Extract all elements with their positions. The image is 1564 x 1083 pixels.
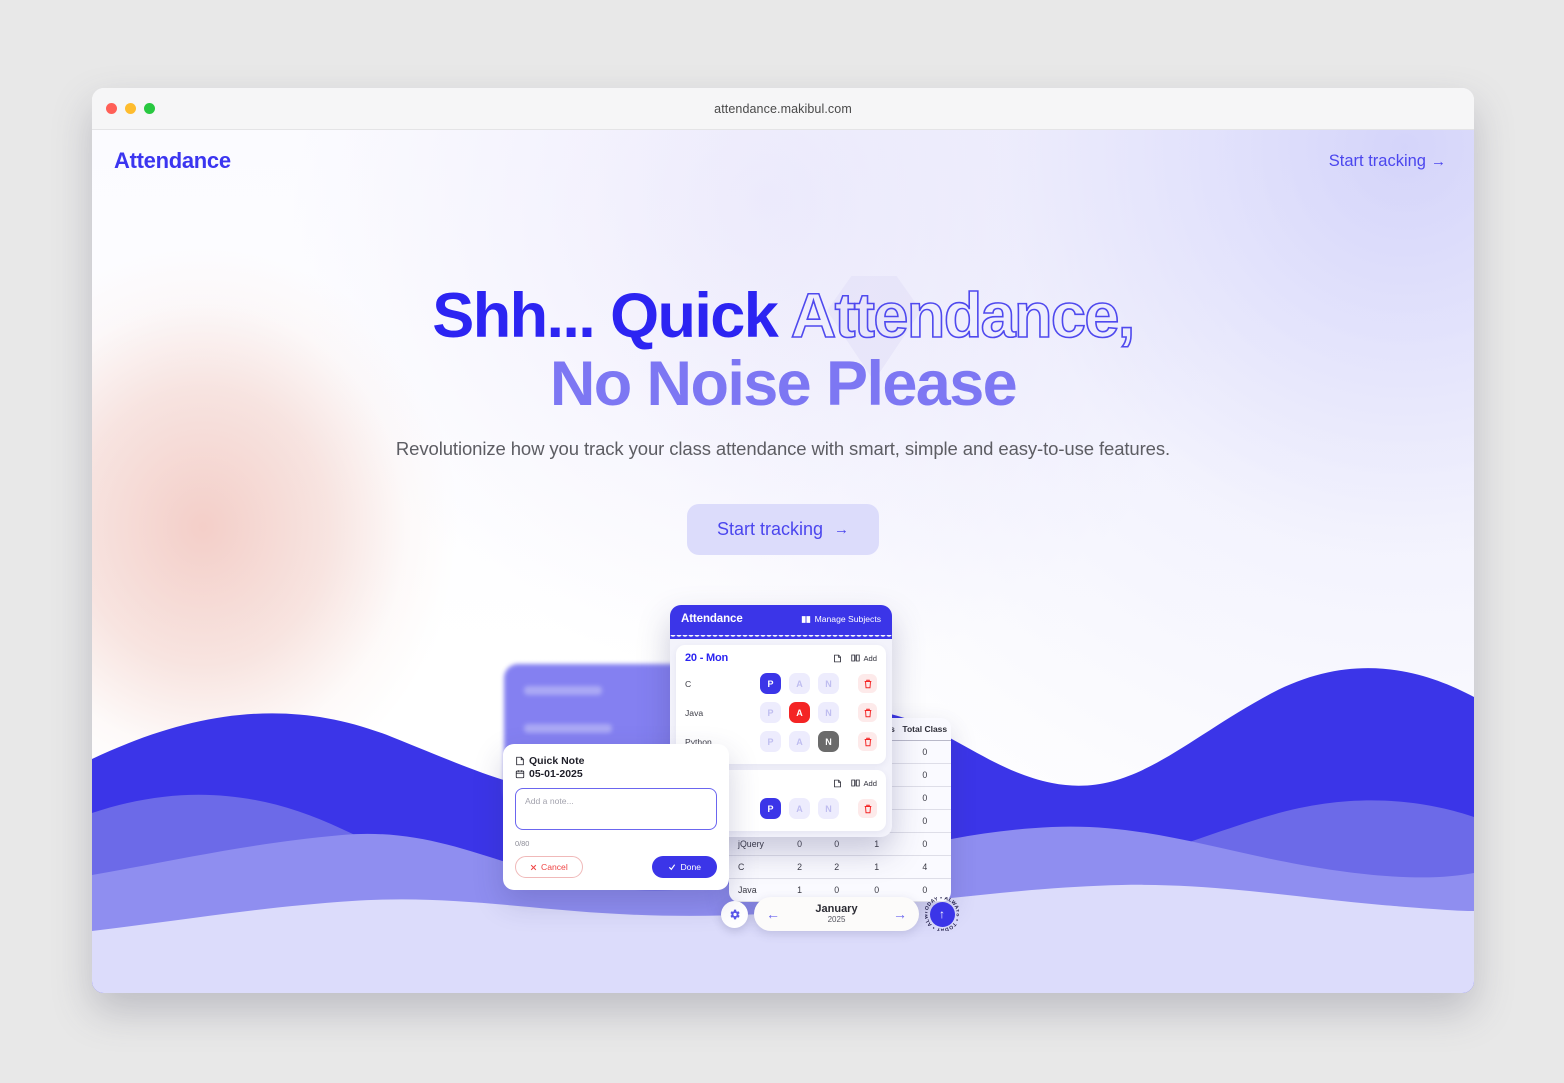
subject-name: C xyxy=(685,679,741,689)
delete-subject-button[interactable] xyxy=(858,732,877,751)
quick-note-card: Quick Note 05-01-2025 0/80 Cancel xyxy=(503,744,729,890)
table-cell-total: 0 xyxy=(899,787,951,810)
mark-button-a[interactable]: A xyxy=(789,673,810,694)
calendar-icon xyxy=(515,769,525,779)
traffic-lights xyxy=(106,103,155,114)
calendar-bottom-bar: ← January 2025 → TODAY • ALWAYS • TODAY … xyxy=(721,894,959,934)
table-cell-total: 0 xyxy=(899,764,951,787)
column-header-total-class: Total Class xyxy=(899,718,951,741)
subject-name: Java xyxy=(685,708,741,718)
note-icon xyxy=(515,756,525,766)
month-label: January 2025 xyxy=(815,904,857,924)
mark-button-p[interactable]: P xyxy=(760,702,781,723)
table-cell-present: 2 xyxy=(780,856,818,879)
mark-button-n[interactable]: N xyxy=(818,731,839,752)
book-icon xyxy=(851,654,860,662)
day-note-button[interactable] xyxy=(833,779,842,788)
done-label: Done xyxy=(680,862,701,872)
headline-part-3: No Noise Please xyxy=(550,349,1016,419)
book-icon xyxy=(851,779,860,787)
ghost-row xyxy=(524,686,602,695)
previous-month-button[interactable]: ← xyxy=(766,907,780,921)
arrow-right-icon: → xyxy=(834,522,849,537)
trash-icon xyxy=(863,804,873,814)
subject-row: CPAN xyxy=(685,669,877,698)
trash-icon xyxy=(863,708,873,718)
table-cell-absent: 2 xyxy=(819,856,855,879)
table-cell-subject: C xyxy=(729,856,780,879)
attendance-marks: PAN xyxy=(741,702,858,723)
page-title: Shh... Quick Attendance, No Noise Please xyxy=(92,282,1474,418)
close-icon xyxy=(530,864,537,871)
table-cell-no-class: 1 xyxy=(855,856,899,879)
day-add-subject-button[interactable]: Add xyxy=(851,779,877,788)
manage-subjects-button[interactable]: Manage Subjects xyxy=(801,614,881,624)
cancel-label: Cancel xyxy=(541,862,568,872)
quick-note-actions: Cancel Done xyxy=(515,856,717,878)
attendance-card-title: Attendance xyxy=(681,613,743,625)
browser-window: attendance.makibul.com Attendance Start … xyxy=(92,88,1474,993)
mark-button-n[interactable]: N xyxy=(818,702,839,723)
hero-section: Shh... Quick Attendance, No Noise Please… xyxy=(92,192,1474,555)
gear-icon xyxy=(728,908,741,921)
header-start-tracking-button[interactable]: Start tracking → xyxy=(1329,152,1446,171)
arrow-right-icon: → xyxy=(1431,154,1446,169)
mark-button-a[interactable]: A xyxy=(789,798,810,819)
scroll-to-today-badge[interactable]: TODAY • ALWAYS • TODAY • ALWAYS • ↑ xyxy=(925,897,959,931)
day-actions: Add xyxy=(833,654,877,663)
trash-icon xyxy=(863,679,873,689)
delete-subject-button[interactable] xyxy=(858,703,877,722)
day-add-label: Add xyxy=(863,654,877,663)
day-actions: Add xyxy=(833,779,877,788)
manage-subjects-label: Manage Subjects xyxy=(815,614,881,624)
hero-cta-label: Start tracking xyxy=(717,519,823,540)
attendance-card-header: Attendance Manage Subjects xyxy=(670,605,892,635)
table-cell-total: 0 xyxy=(899,741,951,764)
quick-note-character-counter: 0/80 xyxy=(515,839,717,848)
day-add-label: Add xyxy=(863,779,877,788)
note-icon xyxy=(833,779,842,788)
quick-note-title-row: Quick Note xyxy=(515,755,717,767)
trash-icon xyxy=(863,737,873,747)
subject-row: JavaPAN xyxy=(685,698,877,727)
ghost-row xyxy=(524,724,612,733)
table-cell-total: 0 xyxy=(899,810,951,833)
close-window-icon[interactable] xyxy=(106,103,117,114)
quick-note-textarea[interactable] xyxy=(515,788,717,830)
next-month-button[interactable]: → xyxy=(893,907,907,921)
done-button[interactable]: Done xyxy=(652,856,717,878)
note-icon xyxy=(833,654,842,663)
table-row: C2214 xyxy=(729,856,951,879)
hero-cta-wrapper: Start tracking → xyxy=(92,504,1474,555)
mark-button-n[interactable]: N xyxy=(818,798,839,819)
book-icon xyxy=(801,615,811,624)
day-add-subject-button[interactable]: Add xyxy=(851,654,877,663)
attendance-marks: PAN xyxy=(741,731,858,752)
attendance-marks: PAN xyxy=(741,673,858,694)
day-header: 20 - MonAdd xyxy=(685,652,877,664)
mark-button-p[interactable]: P xyxy=(760,731,781,752)
delete-subject-button[interactable] xyxy=(858,674,877,693)
quick-note-title: Quick Note xyxy=(529,755,584,767)
site-header: Attendance Start tracking → xyxy=(92,130,1474,192)
browser-title-bar: attendance.makibul.com xyxy=(92,88,1474,130)
table-cell-total: 0 xyxy=(899,833,951,856)
svg-text:TODAY • ALWAYS • TODAY • ALWAY: TODAY • ALWAYS • TODAY • ALWAYS • xyxy=(925,897,959,931)
cancel-button[interactable]: Cancel xyxy=(515,856,583,878)
mark-button-a[interactable]: A xyxy=(789,702,810,723)
attendance-marks: PAN xyxy=(741,798,858,819)
headline-part-2: Attendance, xyxy=(791,281,1134,351)
table-cell-total: 4 xyxy=(899,856,951,879)
month-year: 2025 xyxy=(815,916,857,924)
headline-part-1: Shh... Quick xyxy=(432,281,777,351)
mark-button-p[interactable]: P xyxy=(760,798,781,819)
quick-note-date: 05-01-2025 xyxy=(529,768,583,780)
day-label: 20 - Mon xyxy=(685,652,728,664)
brand-logo[interactable]: Attendance xyxy=(114,148,231,174)
settings-button[interactable] xyxy=(721,901,748,928)
day-note-button[interactable] xyxy=(833,654,842,663)
address-bar-url[interactable]: attendance.makibul.com xyxy=(92,102,1474,116)
hero-subtitle: Revolutionize how you track your class a… xyxy=(92,438,1474,460)
maximize-window-icon[interactable] xyxy=(144,103,155,114)
mark-button-n[interactable]: N xyxy=(818,673,839,694)
badge-ring-text-icon: TODAY • ALWAYS • TODAY • ALWAYS • xyxy=(925,897,959,931)
delete-subject-button[interactable] xyxy=(858,799,877,818)
mark-button-a[interactable]: A xyxy=(789,731,810,752)
mark-button-p[interactable]: P xyxy=(760,673,781,694)
hero-start-tracking-button[interactable]: Start tracking → xyxy=(687,504,879,555)
page-canvas: Attendance Start tracking → Shh... Quick… xyxy=(92,130,1474,993)
check-icon xyxy=(668,863,676,871)
header-cta-label: Start tracking xyxy=(1329,152,1426,171)
month-name: January xyxy=(815,904,857,916)
quick-note-date-row: 05-01-2025 xyxy=(515,768,717,780)
minimize-window-icon[interactable] xyxy=(125,103,136,114)
month-navigator: ← January 2025 → xyxy=(754,897,919,931)
